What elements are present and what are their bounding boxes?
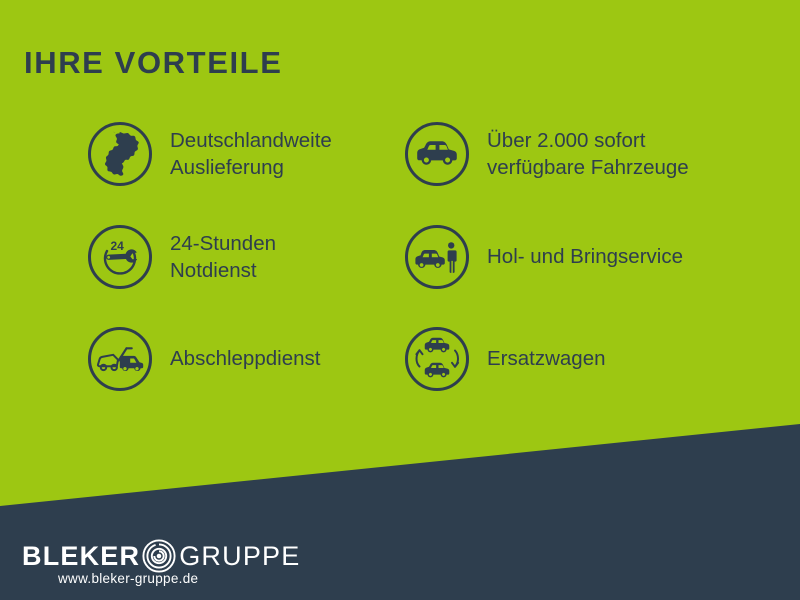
benefit-item-deutschlandweite-auslieferung: Deutschlandweite Auslieferung (88, 122, 408, 186)
brand-url: www.bleker-gruppe.de (58, 572, 198, 586)
car-bottom-shape (425, 363, 450, 378)
24-hour-wrench-icon: 24 (88, 225, 152, 289)
truck-shape (120, 356, 143, 371)
benefit-label: Hol- und Bringservice (487, 243, 683, 270)
towed-car-shape (98, 355, 118, 370)
two-cars-swap-icon (405, 327, 469, 391)
benefit-label: Abschleppdienst (170, 345, 320, 372)
slide-canvas: IHRE VORTEILE Deutschlandweite Ausliefer… (0, 0, 800, 600)
benefit-label: Deutschlandweite Auslieferung (170, 127, 332, 182)
benefit-item-verfuegbare-fahrzeuge: Über 2.000 sofort verfügbare Fahrzeuge (405, 122, 795, 186)
tow-truck-icon (88, 327, 152, 391)
brand-logo: BLEKER GRUPPE (22, 538, 300, 574)
car-icon (405, 122, 469, 186)
benefit-label: Über 2.000 sofort verfügbare Fahrzeuge (487, 127, 689, 182)
benefit-item-ersatzwagen: Ersatzwagen (405, 327, 795, 391)
benefit-item-hol-und-bringservice: Hol- und Bringservice (405, 225, 795, 289)
car-with-person-icon (405, 225, 469, 289)
benefits-list: Deutschlandweite Auslieferung Über 2.000… (0, 0, 800, 420)
car-top-shape (425, 338, 450, 353)
person-shape (447, 242, 456, 273)
germany-map-icon (88, 122, 152, 186)
benefit-label: Ersatzwagen (487, 345, 606, 372)
car-shape (415, 250, 444, 268)
icon-24-text: 24 (111, 239, 125, 253)
logo-light-text: GRUPPE (179, 543, 300, 570)
benefit-item-24-stunden-notdienst: 24 24-Stunden Notdienst (88, 225, 408, 289)
benefit-item-abschleppdienst: Abschleppdienst (88, 327, 408, 391)
spiral-logo-icon (141, 538, 177, 574)
benefit-label: 24-Stunden Notdienst (170, 230, 276, 285)
logo-bold-text: BLEKER (22, 543, 140, 570)
